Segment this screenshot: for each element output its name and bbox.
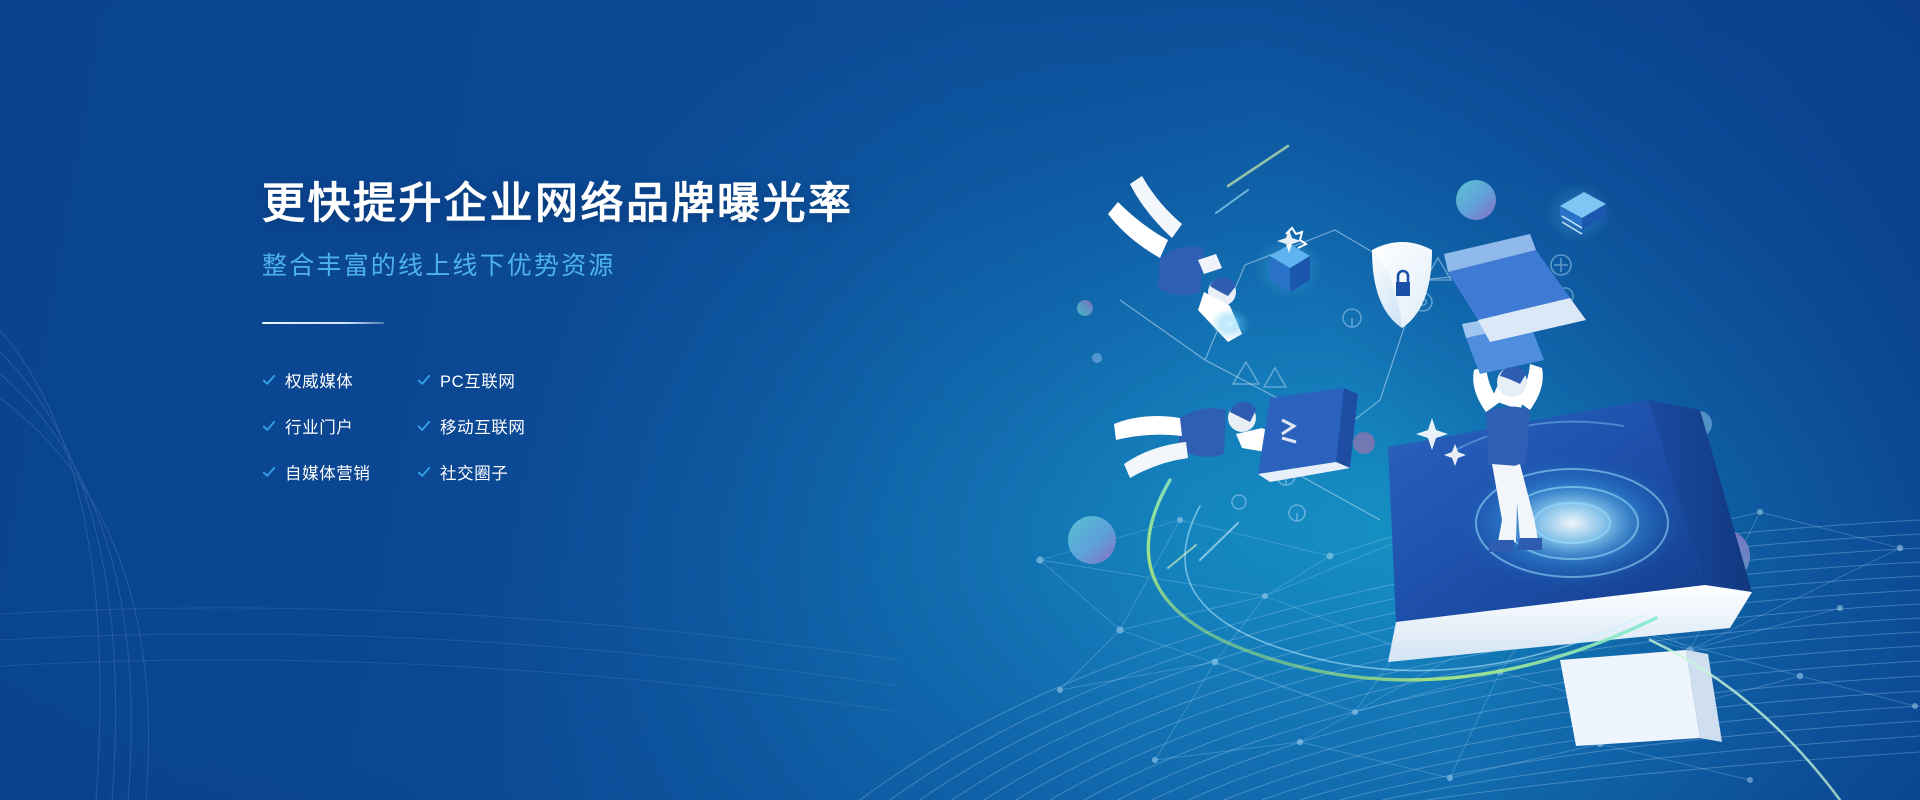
page-subtitle: 整合丰富的线上线下优势资源 <box>262 250 882 283</box>
check-icon <box>417 419 431 433</box>
feature-item-mobile-internet[interactable]: 移动互联网 <box>417 414 682 438</box>
title-divider <box>262 322 384 324</box>
check-icon <box>262 373 276 387</box>
feature-label: 行业门户 <box>285 414 353 438</box>
feature-label: 移动互联网 <box>440 414 526 438</box>
feature-label: 权威媒体 <box>285 368 353 392</box>
feature-item-industry-portal[interactable]: 行业门户 <box>262 414 417 438</box>
feature-item-social-circle[interactable]: 社交圈子 <box>417 460 682 484</box>
check-icon <box>262 419 276 433</box>
hero-copy: 更快提升企业网络品牌曝光率 整合丰富的线上线下优势资源 权威媒体 PC互联网 <box>262 178 882 484</box>
feature-item-pc-internet[interactable]: PC互联网 <box>417 368 682 392</box>
feature-label: 自媒体营销 <box>285 460 371 484</box>
check-icon <box>417 373 431 387</box>
feature-item-authoritative-media[interactable]: 权威媒体 <box>262 368 417 392</box>
feature-list: 权威媒体 PC互联网 行业门户 移动互联网 <box>262 368 682 484</box>
check-icon <box>262 465 276 479</box>
page-title: 更快提升企业网络品牌曝光率 <box>262 178 882 232</box>
check-icon <box>417 465 431 479</box>
hero-banner: 更快提升企业网络品牌曝光率 整合丰富的线上线下优势资源 权威媒体 PC互联网 <box>0 0 1920 800</box>
feature-label: 社交圈子 <box>440 460 508 484</box>
feature-label: PC互联网 <box>440 368 515 392</box>
feature-item-self-media-marketing[interactable]: 自媒体营销 <box>262 460 417 484</box>
